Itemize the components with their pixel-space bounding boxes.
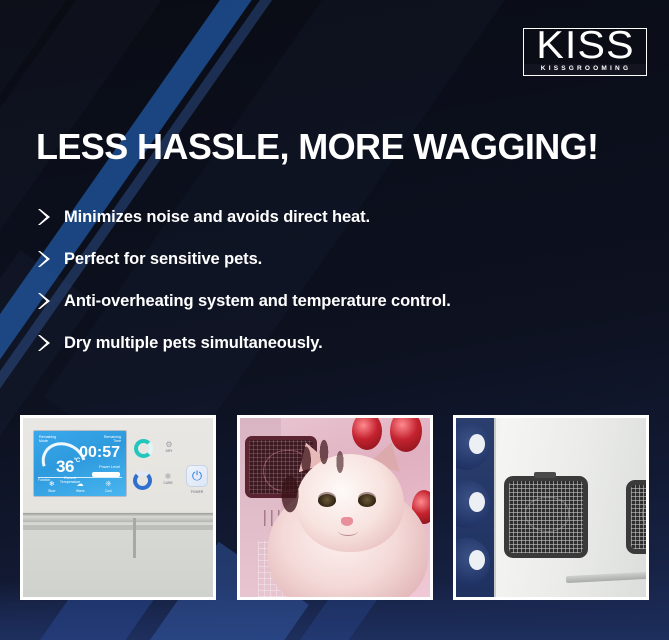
list-item: Minimizes noise and avoids direct heat.	[38, 196, 618, 238]
chevron-right-icon	[38, 249, 64, 269]
list-item-label: Anti-overheating system and temperature …	[64, 292, 451, 311]
chevron-right-icon	[38, 333, 64, 353]
kiss-grooming-logo: KISS KISSGROOMING	[523, 28, 647, 76]
cat-in-dryer-photo	[237, 415, 433, 600]
feature-list: Minimizes noise and avoids direct heat. …	[38, 196, 618, 364]
lcd-temperature-value: 36°C	[56, 458, 80, 475]
list-item: Anti-overheating system and temperature …	[38, 280, 618, 322]
fan-icon: ❊Cool	[105, 480, 112, 493]
power-label: POWER	[183, 490, 211, 494]
vent-grille-main	[504, 476, 588, 558]
care-dial	[133, 471, 152, 490]
leaf-icon: ❄Blow	[48, 480, 55, 493]
chevron-right-icon	[38, 291, 64, 311]
control-panel-photo: RemainingMode RemainingTime 36°C Current…	[20, 415, 216, 600]
list-item-label: Dry multiple pets simultaneously.	[64, 334, 323, 353]
wave-icon: ☁Warm	[76, 480, 84, 493]
lcd-function-row: ❄Blow ☁Warm ❊Cool	[38, 477, 122, 493]
list-item: Perfect for sensitive pets.	[38, 238, 618, 280]
vent-grille-tab	[534, 472, 556, 478]
dry-icon: ⚙DRY	[163, 441, 175, 453]
dry-label: DRY	[163, 450, 175, 453]
lcd-func-1-label: Blow	[48, 489, 55, 493]
list-item-label: Minimizes noise and avoids direct heat.	[64, 208, 370, 227]
photo-strip: RemainingMode RemainingTime 36°C Current…	[20, 415, 649, 600]
cat-mouth	[338, 526, 358, 536]
list-item: Dry multiple pets simultaneously.	[38, 322, 618, 364]
cabinet-vents-photo	[453, 415, 649, 600]
panel-seam	[23, 513, 213, 522]
lcd-temp-number: 36	[56, 457, 74, 476]
wall-corner-edge	[494, 418, 496, 597]
page-title: LESS HASSLE, MORE WAGGING!	[36, 126, 598, 168]
logo-wordmark: KISS	[536, 26, 634, 65]
lcd-timer-value: 00:57	[79, 445, 120, 461]
panel-split	[133, 518, 136, 557]
lcd-func-2-label: Warm	[76, 489, 84, 493]
vent-grille-secondary	[626, 480, 649, 554]
lcd-display: RemainingMode RemainingTime 36°C Current…	[33, 430, 127, 497]
lcd-func-3-label: Cool	[105, 489, 112, 493]
care-icon: ❄CARE	[162, 473, 174, 485]
list-item-label: Perfect for sensitive pets.	[64, 250, 262, 269]
promo-banner: KISS KISSGROOMING LESS HASSLE, MORE WAGG…	[0, 0, 669, 640]
cat-eye-left	[318, 494, 336, 507]
dry-dial	[134, 439, 153, 458]
cat-eye-right	[358, 494, 376, 507]
care-label: CARE	[162, 482, 174, 485]
panel-seam-lower	[23, 525, 213, 530]
cat-nose	[341, 517, 353, 526]
lcd-power-label: Power Level	[99, 465, 120, 469]
chevron-right-icon	[38, 207, 64, 227]
lcd-top-right-label: RemainingTime	[104, 435, 121, 444]
power-icon: ⏻	[186, 465, 208, 487]
